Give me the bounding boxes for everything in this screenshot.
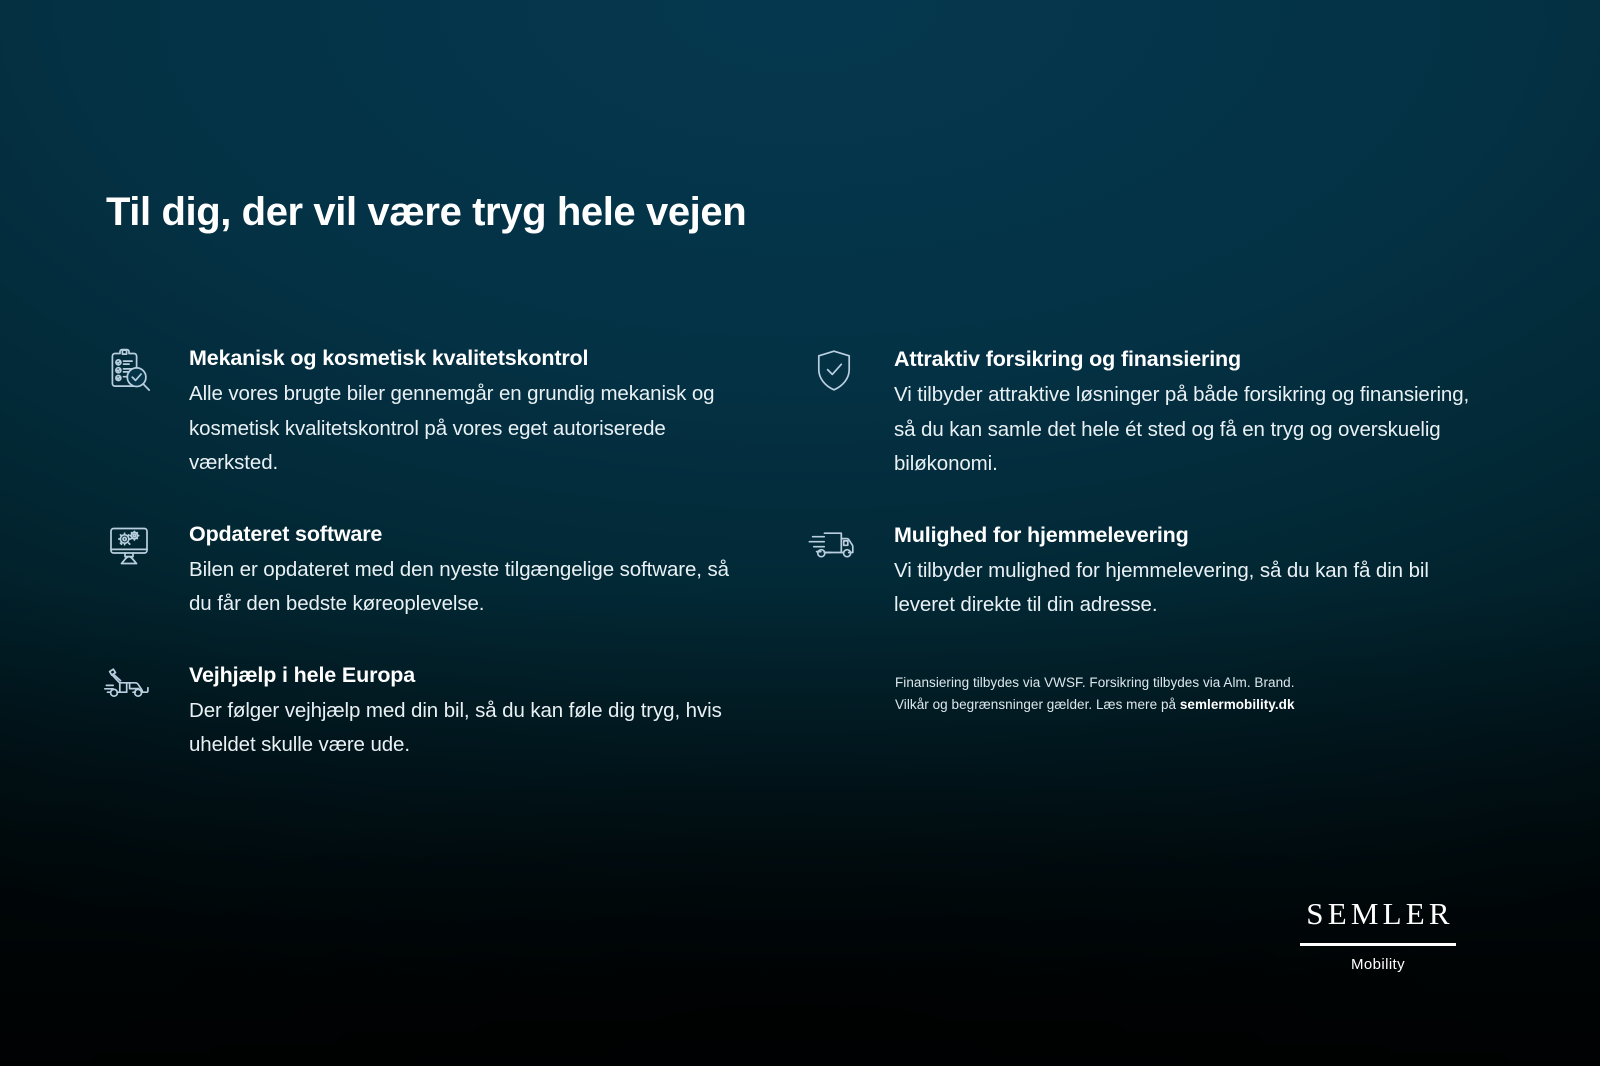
feature-body: Mekanisk og kosmetisk kvalitetskontrol A… [158, 345, 740, 481]
feature-body: Attraktiv forsikring og finansiering Vi … [863, 346, 1485, 482]
shield-check-icon [805, 346, 863, 396]
feature-title: Opdateret software [189, 521, 740, 547]
feature-description: Alle vores brugte biler gennemgår en gru… [189, 377, 740, 480]
feature-item: Mekanisk og kosmetisk kvalitetskontrol A… [100, 345, 740, 481]
disclaimer-line-1: Finansiering tilbydes via VWSF. Forsikri… [895, 675, 1295, 690]
clipboard-checklist-magnifier-icon [100, 345, 158, 395]
feature-description: Vi tilbyder mulighed for hjemmelevering,… [894, 554, 1485, 623]
feature-title: Mulighed for hjemmelevering [894, 522, 1485, 548]
feature-title: Attraktiv forsikring og finansiering [894, 346, 1485, 372]
feature-body: Vejhjælp i hele Europa Der følger vejhjæ… [158, 662, 740, 763]
slide-canvas: Til dig, der vil være tryg hele vejen [0, 0, 1600, 1066]
feature-body: Opdateret software Bilen er opdateret me… [158, 521, 740, 622]
feature-body: Mulighed for hjemmelevering Vi tilbyder … [863, 522, 1485, 623]
feature-description: Vi tilbyder attraktive løsninger på både… [894, 378, 1485, 481]
feature-title: Mekanisk og kosmetisk kvalitetskontrol [189, 345, 740, 371]
right-feature-column: Attraktiv forsikring og finansiering Vi … [805, 346, 1485, 623]
feature-description: Bilen er opdateret med den nyeste tilgæn… [189, 553, 740, 622]
feature-item: Mulighed for hjemmelevering Vi tilbyder … [805, 522, 1485, 623]
feature-title: Vejhjælp i hele Europa [189, 662, 740, 688]
feature-item: Opdateret software Bilen er opdateret me… [100, 521, 740, 622]
feature-item: Vejhjælp i hele Europa Der følger vejhjæ… [100, 662, 740, 763]
logo-wordmark: SEMLER [1300, 898, 1456, 929]
left-feature-column: Mekanisk og kosmetisk kvalitetskontrol A… [100, 345, 740, 763]
semlermobility-link[interactable]: semlermobility.dk [1180, 697, 1295, 712]
feature-description: Der følger vejhjælp med din bil, så du k… [189, 694, 740, 763]
tow-truck-icon [100, 662, 158, 712]
logo-subtitle: Mobility [1300, 956, 1456, 973]
logo-divider [1300, 943, 1456, 946]
disclaimer-text: Finansiering tilbydes via VWSF. Forsikri… [895, 672, 1365, 717]
semler-mobility-logo: SEMLER Mobility [1300, 898, 1456, 973]
monitor-gears-icon [100, 521, 158, 571]
feature-item: Attraktiv forsikring og finansiering Vi … [805, 346, 1485, 482]
delivery-truck-icon [805, 522, 863, 572]
page-title: Til dig, der vil være tryg hele vejen [106, 190, 746, 235]
disclaimer-line-2-prefix: Vilkår og begrænsninger gælder. Læs mere… [895, 697, 1180, 712]
